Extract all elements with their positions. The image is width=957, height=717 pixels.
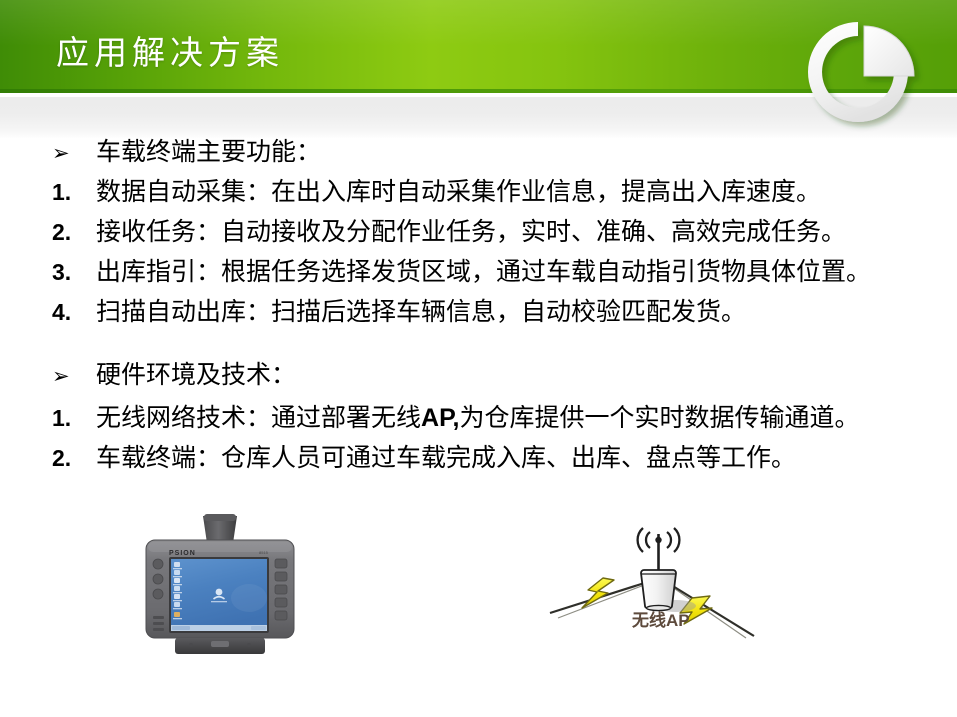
slide-canvas: 应用解决方案 xyxy=(0,0,957,717)
list-item-text: 接收任务：自动接收及分配作业任务，实时、准确、高效完成任务。 xyxy=(96,219,846,247)
section-heading-1-text: 车载终端主要功能： xyxy=(96,139,321,167)
list-marker: 2. xyxy=(52,444,96,472)
arrow-bullet-icon: ➢ xyxy=(52,139,96,167)
list-item: 4.扫描自动出库：扫描后选择车辆信息，自动校验匹配发货。 xyxy=(52,298,746,327)
list-item: 1.数据自动采集：在出入库时自动采集作业信息，提高出入库速度。 xyxy=(52,178,821,207)
arrow-bullet-icon: ➢ xyxy=(52,362,96,390)
section-heading-2-text: 硬件环境及技术： xyxy=(96,362,296,390)
list-marker: 1. xyxy=(52,404,96,432)
section-heading-1: ➢车载终端主要功能： xyxy=(52,139,321,167)
list-item-text-pre: 无线网络技术：通过部署无线 xyxy=(96,405,421,432)
list-marker: 4. xyxy=(52,298,96,326)
list-marker: 3. xyxy=(52,258,96,286)
list-item: 1.无线网络技术：通过部署无线AP,为仓库提供一个实时数据传输通道。 xyxy=(52,404,859,433)
list-item: 2.接收任务：自动接收及分配作业任务，实时、准确、高效完成任务。 xyxy=(52,218,846,247)
section-heading-2: ➢硬件环境及技术： xyxy=(52,362,296,390)
access-point-label: 无线AP xyxy=(632,606,690,631)
list-item-text: 车载终端：仓库人员可通过车载完成入库、出库、盘点等工作。 xyxy=(96,445,796,473)
wireless-access-point-image xyxy=(536,512,771,662)
list-item: 2.车载终端：仓库人员可通过车载完成入库、出库、盘点等工作。 xyxy=(52,444,796,473)
list-item-text-emphasis: AP, xyxy=(421,404,459,432)
list-item-text: 扫描自动出库：扫描后选择车辆信息，自动校验匹配发货。 xyxy=(96,299,746,327)
list-marker: 2. xyxy=(52,218,96,246)
svg-text:PSION: PSION xyxy=(169,550,196,557)
list-item-text-post: 为仓库提供一个实时数据传输通道。 xyxy=(459,405,859,432)
list-item-text: 无线网络技术：通过部署无线AP,为仓库提供一个实时数据传输通道。 xyxy=(96,404,859,433)
list-item-text: 数据自动采集：在出入库时自动采集作业信息，提高出入库速度。 xyxy=(96,179,821,207)
svg-text:8515: 8515 xyxy=(259,550,269,555)
list-marker: 1. xyxy=(52,178,96,206)
vehicle-mount-terminal-image: PSION 8515 xyxy=(131,512,309,662)
list-item: 3.出库指引：根据任务选择发货区域，通过车载自动指引货物具体位置。 xyxy=(52,258,871,287)
list-item-text: 出库指引：根据任务选择发货区域，通过车载自动指引货物具体位置。 xyxy=(96,259,871,287)
